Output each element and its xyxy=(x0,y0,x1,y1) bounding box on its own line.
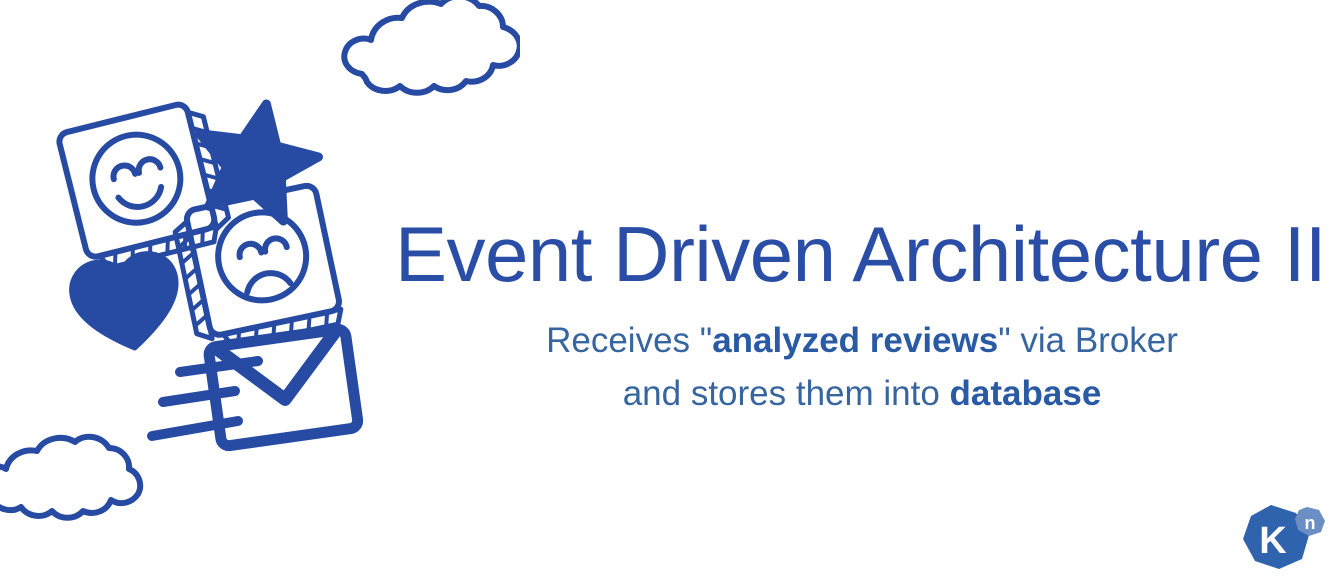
cloud-top-icon xyxy=(344,0,519,93)
logo-primary-letter: K xyxy=(1259,520,1287,562)
speed-lines-icon xyxy=(152,361,258,436)
happy-review-card-icon xyxy=(57,99,233,272)
subtitle-line-1-before: Receives " xyxy=(546,321,712,360)
page-title: Event Driven Architecture II xyxy=(395,215,1341,293)
subtitle: Receives "analyzed reviews" via Broker a… xyxy=(395,315,1341,420)
brand-logo: K n xyxy=(1237,501,1329,579)
subtitle-line-1-after: " via Broker xyxy=(998,321,1178,360)
logo-badge-letter: n xyxy=(1305,513,1316,533)
envelope-icon xyxy=(208,328,359,446)
subtitle-line-2: and stores them into database xyxy=(395,368,1329,421)
star-icon xyxy=(185,92,327,227)
subtitle-line-2-emphasis: database xyxy=(950,374,1102,413)
sad-review-card-icon xyxy=(171,184,343,353)
slide-canvas: Event Driven Architecture II Receives "a… xyxy=(0,0,1341,585)
cloud-bottom-icon xyxy=(0,437,140,518)
subtitle-line-1-emphasis: analyzed reviews xyxy=(712,321,998,360)
subtitle-line-1: Receives "analyzed reviews" via Broker xyxy=(395,315,1329,368)
text-block: Event Driven Architecture II Receives "a… xyxy=(395,215,1341,420)
heart-icon xyxy=(68,250,186,357)
subtitle-line-2-before: and stores them into xyxy=(623,374,950,413)
